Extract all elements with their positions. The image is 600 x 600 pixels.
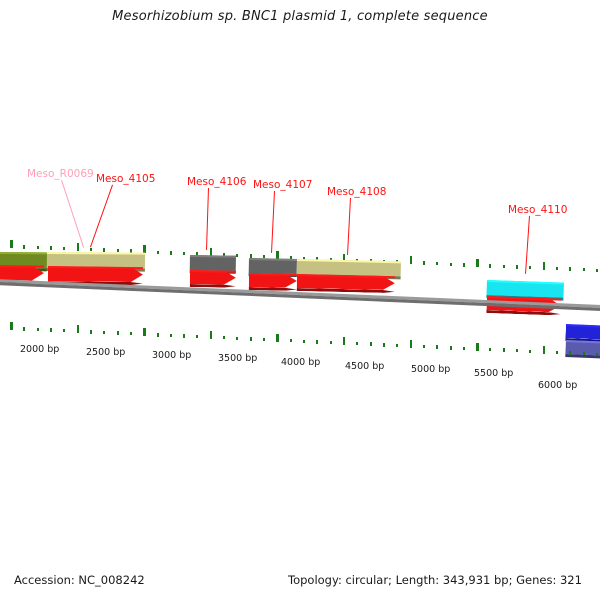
tick-upper-major xyxy=(476,259,479,267)
gene-label-meso_r0069[interactable]: Meso_R0069 xyxy=(27,168,94,180)
tick-upper-minor xyxy=(569,267,571,271)
tick-lower-minor xyxy=(583,352,585,356)
leader-meso-r0069 xyxy=(61,180,84,247)
meso-4106-arrow[interactable] xyxy=(190,270,236,285)
meso-4108-arrow[interactable] xyxy=(297,274,395,290)
tick-upper-minor xyxy=(90,248,92,252)
tick-lower-minor xyxy=(436,345,438,349)
meso-4107-box[interactable] xyxy=(249,258,297,274)
tick-lower-minor xyxy=(556,351,558,355)
tick-lower-minor xyxy=(23,327,25,331)
meso-4105-arrow[interactable] xyxy=(48,266,143,282)
tick-lower-minor xyxy=(503,348,505,352)
tick-lower-minor xyxy=(117,331,119,335)
tick-upper-minor xyxy=(103,248,105,252)
tick-lower-major xyxy=(476,343,479,351)
leader-meso-4107 xyxy=(271,191,275,253)
gene-label-meso_4108[interactable]: Meso_4108 xyxy=(327,186,386,198)
tick-upper-minor xyxy=(50,246,52,250)
tick-lower-major xyxy=(410,340,413,348)
tick-upper-minor xyxy=(489,264,491,268)
tick-lower-minor xyxy=(196,335,198,339)
leader-meso-4105 xyxy=(90,185,113,247)
tick-upper-major xyxy=(543,262,546,270)
gene-label-meso_4106[interactable]: Meso_4106 xyxy=(187,176,246,188)
tick-lower-major xyxy=(143,328,146,336)
edge-blue-arrow[interactable] xyxy=(565,324,600,340)
meso-r0069-box-highlight xyxy=(0,252,47,254)
genome-viewer: Mesorhizobium sp. BNC1 plasmid 1, comple… xyxy=(0,0,600,600)
tick-lower-minor xyxy=(396,344,398,348)
tick-lower-minor xyxy=(529,350,531,354)
tick-lower-minor xyxy=(223,336,225,340)
tick-lower-minor xyxy=(489,348,491,352)
tick-lower-minor xyxy=(103,331,105,335)
tick-upper-minor xyxy=(170,251,172,255)
tick-lower-minor xyxy=(63,329,65,333)
tick-upper-minor xyxy=(157,251,159,255)
tick-lower-minor xyxy=(423,345,425,349)
tick-lower-minor xyxy=(236,337,238,341)
bp-ruler-label-8: 6000 bp xyxy=(538,380,577,391)
tick-upper-minor xyxy=(529,266,531,270)
accession-text: Accession: NC_008242 xyxy=(14,573,145,587)
tick-upper-minor xyxy=(23,245,25,249)
bp-ruler-label-4: 4000 bp xyxy=(281,357,320,368)
meso-4110-box[interactable] xyxy=(486,280,563,298)
tick-lower-minor xyxy=(50,328,52,332)
tick-lower-minor xyxy=(303,340,305,344)
bp-ruler-label-3: 3500 bp xyxy=(218,353,257,364)
tick-lower-minor xyxy=(370,342,372,346)
tick-lower-minor xyxy=(450,346,452,350)
meso-4106-box[interactable] xyxy=(190,255,236,271)
tick-upper-major xyxy=(10,240,13,248)
gene-label-meso_4107[interactable]: Meso_4107 xyxy=(253,179,312,191)
tick-upper-minor xyxy=(463,263,465,267)
tick-lower-minor xyxy=(157,333,159,337)
tick-upper-minor xyxy=(63,247,65,251)
meso-4107-arrow[interactable] xyxy=(249,273,297,288)
tick-upper-minor xyxy=(236,254,238,258)
tick-upper-minor xyxy=(183,252,185,256)
tick-lower-minor xyxy=(130,332,132,336)
tick-lower-minor xyxy=(356,342,358,346)
tick-lower-minor xyxy=(316,340,318,344)
tick-lower-major xyxy=(210,331,213,339)
tick-lower-minor xyxy=(330,341,332,345)
tick-lower-minor xyxy=(37,328,39,332)
tick-upper-major xyxy=(410,256,413,264)
tick-lower-major xyxy=(276,334,279,342)
tick-lower-major xyxy=(343,337,346,345)
tick-lower-minor xyxy=(383,343,385,347)
tick-upper-minor xyxy=(516,265,518,269)
gene-label-meso_4110[interactable]: Meso_4110 xyxy=(508,204,567,216)
tick-lower-minor xyxy=(569,351,571,355)
bp-ruler-label-6: 5000 bp xyxy=(411,364,450,375)
tick-upper-major xyxy=(77,243,80,251)
tick-upper-minor xyxy=(37,246,39,250)
meso-r0069-arrow[interactable] xyxy=(0,265,44,281)
tick-upper-minor xyxy=(596,269,598,273)
bp-ruler-label-0: 2000 bp xyxy=(20,344,59,355)
leader-meso-4108 xyxy=(347,198,351,255)
gene-label-meso_4105[interactable]: Meso_4105 xyxy=(96,173,155,185)
tick-lower-minor xyxy=(263,338,265,342)
tick-lower-minor xyxy=(90,330,92,334)
tick-upper-minor xyxy=(503,265,505,269)
tick-upper-minor xyxy=(556,267,558,271)
tick-lower-minor xyxy=(290,339,292,343)
bp-ruler-label-2: 3000 bp xyxy=(152,350,191,361)
tick-upper-minor xyxy=(583,268,585,272)
tick-lower-minor xyxy=(170,334,172,338)
tick-lower-minor xyxy=(463,347,465,351)
tick-upper-minor xyxy=(450,263,452,267)
bp-ruler-label-7: 5500 bp xyxy=(474,368,513,379)
tick-lower-minor xyxy=(596,353,598,357)
tick-lower-major xyxy=(543,346,546,354)
tick-upper-minor xyxy=(423,261,425,265)
tick-lower-minor xyxy=(183,334,185,338)
sequence-summary-text: Topology: circular; Length: 343,931 bp; … xyxy=(288,573,582,587)
tick-lower-minor xyxy=(516,349,518,353)
leader-meso-4106 xyxy=(206,188,209,250)
bp-ruler-label-1: 2500 bp xyxy=(86,347,125,358)
bp-ruler-label-5: 4500 bp xyxy=(345,361,384,372)
page-title: Mesorhizobium sp. BNC1 plasmid 1, comple… xyxy=(0,9,600,24)
tick-lower-minor xyxy=(250,337,252,341)
tick-upper-minor xyxy=(436,262,438,266)
tick-lower-major xyxy=(10,322,13,330)
tick-lower-major xyxy=(77,325,80,333)
